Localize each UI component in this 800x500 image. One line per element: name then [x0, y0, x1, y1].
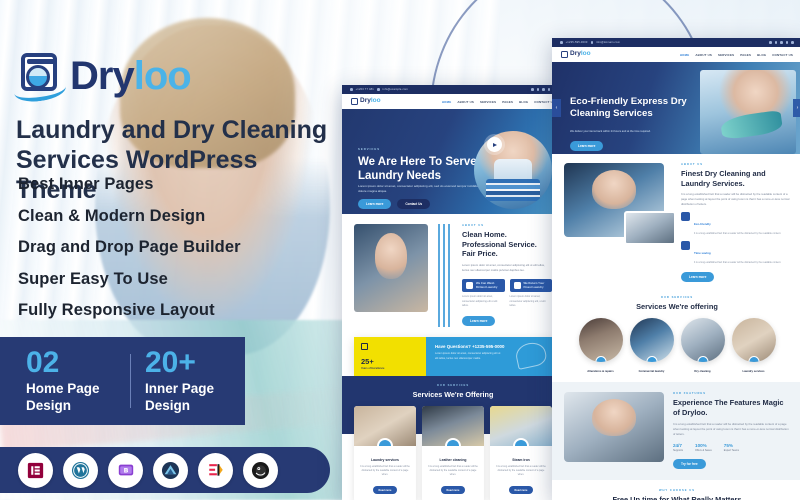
washer-icon	[646, 356, 657, 362]
hero-photo	[700, 70, 796, 154]
list-item: Fully Responsive Layout	[18, 301, 338, 320]
topbar-email: info@example.com	[383, 88, 408, 91]
stat-label: Supports	[673, 449, 683, 452]
stat-number: 75%	[724, 443, 739, 448]
about-card: We Can Wash Dirtiest Laundry Lorem ipsum…	[462, 279, 505, 309]
service-read-more-button[interactable]: Read more	[441, 486, 466, 494]
about-feature: Eco-friendly It is a long established fa…	[681, 212, 790, 236]
slider-next-arrow[interactable]: ›	[793, 99, 800, 117]
mock1-logo[interactable]: Dryloo	[351, 98, 381, 105]
hero-learn-more-button[interactable]: Learn more	[358, 199, 391, 209]
stat-inner-pages: 20+ Inner Page Design	[145, 347, 243, 414]
mock1-cta-bar: 25+ Years of Excellence Have Questions? …	[354, 337, 552, 377]
decorative-stripes	[438, 224, 452, 327]
service-title: Leather cleaning	[422, 458, 484, 462]
stat-number: 100%	[695, 443, 712, 448]
washing-machine-icon	[561, 51, 568, 58]
linkedin-icon[interactable]	[542, 88, 545, 91]
mock2-bottom-section: WHY CHOOSE US Free Up time for What Real…	[552, 480, 800, 500]
wordpress-icon[interactable]	[63, 453, 98, 488]
service-label: Alterations & repairs	[579, 370, 623, 373]
play-button-icon[interactable]	[487, 137, 502, 152]
about-feature-body: It is a long established fact that a rea…	[694, 261, 781, 265]
brand-logo: Dryloo	[14, 50, 191, 102]
stat-label: Home Page Design	[26, 381, 124, 415]
iron-icon	[513, 438, 529, 446]
brand-wordmark: Dryloo	[70, 56, 191, 96]
service-circle[interactable]: Dry cleaning	[681, 318, 725, 373]
mock2-about-section: ABOUT US Finest Dry Cleaning and Laundry…	[552, 154, 800, 292]
feature-list: Best Inner Pages Clean & Modern Design D…	[18, 175, 338, 333]
menu-item-contact[interactable]: CONTACT US	[772, 53, 793, 57]
bottom-title: Free Up time for What Really Matters	[564, 495, 790, 500]
about-feature-body: It is a long established fact that a rea…	[694, 232, 781, 236]
leather-icon	[445, 438, 461, 446]
mock2-hero: Eco-Friendly Express Dry Cleaning Servic…	[552, 62, 800, 154]
medal-icon	[361, 343, 368, 350]
elementskit-icon[interactable]	[198, 453, 233, 488]
service-card[interactable]: Steam iron It is a long established fact…	[490, 406, 552, 500]
service-read-more-button[interactable]: Read more	[373, 486, 398, 494]
clock-icon	[681, 241, 690, 250]
mock1-hero: SERVICES We Are Here To Serve Your Laund…	[342, 109, 564, 214]
service-body: It is a long established fact that a rea…	[422, 465, 484, 478]
twitter-icon[interactable]	[775, 41, 778, 44]
plugin-badge-bar: B	[0, 447, 330, 493]
basket-icon	[748, 356, 759, 362]
service-circle[interactable]: Alterations & repairs	[579, 318, 623, 373]
svg-text:B: B	[123, 467, 128, 474]
about-photo-inset	[624, 211, 676, 245]
service-label: Dry cleaning	[681, 370, 725, 373]
cta-question-block: Have Questions? +1235-595-0000 Lorem ips…	[426, 337, 552, 377]
service-read-more-button[interactable]: Read more	[509, 486, 534, 494]
menu-item-pages[interactable]: PAGES	[502, 100, 513, 104]
services-title: Services We're Offering	[354, 390, 552, 399]
service-card[interactable]: Laundry services It is a long establishe…	[354, 406, 416, 500]
menu-item-home[interactable]: HOME	[442, 100, 451, 104]
features-stats: 24/7 Supports 100% Offers & Saves 75% Ex…	[673, 443, 790, 452]
stat-home-pages: 02 Home Page Design	[26, 347, 124, 414]
washing-machine-icon	[14, 50, 66, 102]
mock2-menu: HOME ABOUT US SERVICES PAGES BLOG CONTAC…	[680, 53, 793, 57]
scissors-icon	[595, 356, 606, 362]
stat-label: Expert Teams	[724, 449, 739, 452]
youtube-icon[interactable]	[791, 41, 794, 44]
cta-years-number: 25+	[361, 358, 419, 366]
cta-question-body: Lorem ipsum dolor sit amet, consectetur …	[435, 352, 502, 361]
list-item: Clean & Modern Design	[18, 207, 338, 226]
mock2-logo-part2: loo	[581, 50, 591, 57]
about-eyebrow: ABOUT US	[681, 163, 790, 166]
washer-icon	[466, 282, 473, 289]
mock2-navbar: Dryloo HOME ABOUT US SERVICES PAGES BLOG…	[552, 47, 800, 62]
feature-stat: 24/7 Supports	[673, 443, 683, 452]
features-try-free-button[interactable]: Try for free	[673, 459, 706, 469]
stat-number: 24/7	[673, 443, 683, 448]
mailchimp-icon[interactable]	[243, 453, 278, 488]
about-learn-more-button[interactable]: Learn more	[681, 272, 714, 282]
service-title: Laundry services	[354, 458, 416, 462]
menu-item-services[interactable]: SERVICES	[480, 100, 496, 104]
mock2-topbar: +1235-595-0000 info@domain.com	[552, 38, 800, 47]
about-learn-more-button[interactable]: Learn more	[462, 316, 495, 326]
about-card: We Return Your Finest Laundry Lorem ipsu…	[510, 279, 553, 309]
leaf-icon	[681, 212, 690, 221]
hero-buttons: Learn more Contact Us	[358, 199, 430, 209]
mock1-service-cards: Laundry services It is a long establishe…	[342, 406, 564, 500]
topbar-email: info@domain.com	[596, 41, 620, 44]
facebook-icon[interactable]	[531, 88, 534, 91]
service-circle-list: Alterations & repairs Commercial laundry…	[564, 318, 790, 373]
service-title: Steam iron	[490, 458, 552, 462]
menu-item-about[interactable]: ABOUT US	[695, 53, 712, 57]
stats-divider	[130, 354, 131, 408]
mock2-logo[interactable]: Dryloo	[561, 51, 591, 58]
stat-label: Inner Page Design	[145, 381, 243, 415]
about-body: Lorem ipsum dolor sit amet, consectetur …	[462, 263, 552, 273]
mock1-logo-part2: loo	[371, 97, 381, 104]
mockup-homepage-one[interactable]: +1203 77 481 info@example.com Dryloo HOM…	[342, 85, 564, 500]
service-card[interactable]: Leather cleaning It is a long establishe…	[422, 406, 484, 500]
services-eyebrow: OUR SERVICES	[564, 296, 790, 299]
hero-eyebrow: SERVICES	[358, 147, 380, 151]
laundry-icon	[377, 438, 393, 446]
service-circle[interactable]: Laundry services	[732, 318, 776, 373]
service-body: It is a long established fact that a rea…	[354, 465, 416, 478]
feature-stat: 75% Expert Teams	[724, 443, 739, 452]
mockup-homepage-two[interactable]: +1235-595-0000 info@domain.com Dryloo HO…	[552, 38, 800, 500]
about-feature: Time saving It is a long established fac…	[681, 241, 790, 265]
elementor-icon[interactable]	[18, 453, 53, 488]
hero-body: We deliver your items back within 24 hou…	[570, 130, 666, 135]
instagram-icon[interactable]	[548, 88, 551, 91]
linkedin-icon[interactable]	[780, 41, 783, 44]
menu-item-blog[interactable]: BLOG	[519, 100, 528, 104]
hanger-icon	[514, 282, 521, 289]
bottom-eyebrow: WHY CHOOSE US	[564, 489, 790, 492]
features-photo	[564, 392, 664, 462]
hero-learn-more-button[interactable]: Learn more	[570, 141, 603, 151]
list-item: Drag and Drop Page Builder	[18, 238, 338, 257]
brand-name-part1: Dry	[70, 54, 134, 98]
about-title: Finest Dry Cleaning and Laundry Services…	[681, 169, 790, 188]
about-cards: We Can Wash Dirtiest Laundry Lorem ipsum…	[462, 279, 552, 309]
about-eyebrow: ABOUT US	[462, 224, 552, 227]
list-item: Super Easy To Use	[18, 270, 338, 289]
ultimate-addons-icon[interactable]	[153, 453, 188, 488]
service-label: Commercial laundry	[630, 370, 674, 373]
features-title: Experience The Features Magic of Dryloo.	[673, 398, 790, 417]
buddypress-icon[interactable]: B	[108, 453, 143, 488]
twitter-icon[interactable]	[537, 88, 540, 91]
about-photo	[354, 224, 428, 312]
about-body: It is a long established fact that a rea…	[681, 192, 790, 207]
service-circle[interactable]: Commercial laundry	[630, 318, 674, 373]
promo-panel: Dryloo Laundry and Dry Cleaning Services…	[0, 0, 345, 500]
stat-number: 02	[26, 347, 124, 379]
services-title: Services We're offering	[564, 302, 790, 312]
hero-photo	[474, 131, 552, 209]
mock1-topbar: +1203 77 481 info@example.com	[342, 85, 564, 94]
service-body: It is a long established fact that a rea…	[490, 465, 552, 478]
about-card-body: Lorem ipsum dolor sit amet, consectetur …	[510, 295, 553, 309]
stats-panel: 02 Home Page Design 20+ Inner Page Desig…	[0, 337, 245, 425]
menu-item-home[interactable]: HOME	[680, 53, 689, 57]
cta-years-block: 25+ Years of Excellence	[354, 337, 426, 377]
brand-name-part2: loo	[134, 54, 191, 98]
about-card-body: Lorem ipsum dolor sit amet, consectetur …	[462, 295, 505, 309]
slider-prev-arrow[interactable]: ‹	[552, 99, 561, 117]
list-item: Best Inner Pages	[18, 175, 338, 194]
menu-item-blog[interactable]: BLOG	[757, 53, 766, 57]
feature-stat: 100% Offers & Saves	[695, 443, 712, 452]
mock2-services-section: OUR SERVICES Services We're offering Alt…	[552, 292, 800, 383]
topbar-phone: +1235-595-0000	[566, 41, 588, 44]
menu-item-pages[interactable]: PAGES	[740, 53, 751, 57]
features-body: It is a long established fact that a rea…	[673, 422, 790, 437]
menu-item-about[interactable]: ABOUT US	[457, 100, 474, 104]
topbar-phone: +1203 77 481	[356, 88, 374, 91]
stat-label: Offers & Saves	[695, 449, 712, 452]
about-title: Clean Home. Professional Service. Fair P…	[462, 230, 552, 259]
services-eyebrow: OUR SERVICES	[354, 384, 552, 387]
about-feature-title: Eco-friendly	[694, 222, 711, 226]
about-feature-title: Time saving	[694, 251, 711, 255]
facebook-icon[interactable]	[769, 41, 772, 44]
service-label: Laundry services	[732, 370, 776, 373]
washing-machine-icon	[351, 98, 358, 105]
instagram-icon[interactable]	[786, 41, 789, 44]
menu-item-services[interactable]: SERVICES	[718, 53, 734, 57]
mock1-menu: HOME ABOUT US SERVICES PAGES BLOG CONTAC…	[442, 100, 555, 104]
mock2-logo-part1: Dry	[570, 50, 581, 57]
mock2-features-section: OUR FEATURES Experience The Features Mag…	[552, 382, 800, 479]
about-card-title: We Can Wash Dirtiest Laundry	[476, 282, 501, 290]
about-card-title: We Return Your Finest Laundry	[524, 282, 549, 290]
stat-number: 20+	[145, 347, 243, 379]
shirt-icon	[697, 356, 708, 362]
mock1-about-section: ABOUT US Clean Home. Professional Servic…	[342, 214, 564, 337]
hero-title: Eco-Friendly Express Dry Cleaning Servic…	[570, 96, 688, 121]
mock1-navbar: Dryloo HOME ABOUT US SERVICES PAGES BLOG…	[342, 94, 564, 109]
cta-years-label: Years of Excellence	[361, 367, 419, 370]
features-eyebrow: OUR FEATURES	[673, 392, 790, 395]
hero-contact-button[interactable]: Contact Us	[397, 199, 430, 209]
mock1-logo-part1: Dry	[360, 97, 371, 104]
